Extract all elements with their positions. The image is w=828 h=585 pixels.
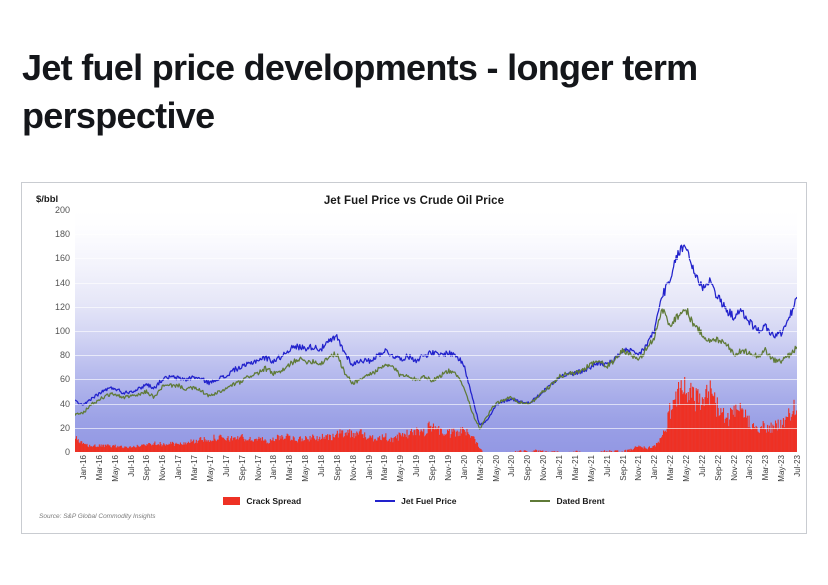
chart-legend: Crack Spread Jet Fuel Price Dated Brent [22,496,806,506]
legend-label-crack-spread: Crack Spread [246,496,301,506]
x-axis-tick-label: Mar-20 [476,455,485,480]
legend-swatch-jet-fuel-price-icon [375,500,395,502]
plot-wrapper: 200180160140120100806040200 Jan-16Mar-16… [35,210,797,468]
legend-swatch-dated-brent-icon [530,500,550,502]
slide-page: Jet fuel price developments - longer ter… [0,0,828,585]
x-axis-tick-label: Mar-19 [380,455,389,480]
legend-label-dated-brent: Dated Brent [556,496,604,506]
x-axis-tick-label: Jan-16 [79,455,88,479]
x-axis-tick-label: Nov-22 [730,455,739,481]
x-axis-tick-label: Sep-16 [142,455,151,481]
x-axis-tick-label: May-22 [682,455,691,482]
legend-item-crack-spread[interactable]: Crack Spread [223,496,301,506]
legend-item-dated-brent[interactable]: Dated Brent [530,496,604,506]
x-axis-tick-label: May-20 [492,455,501,482]
x-axis-tick-label: May-19 [396,455,405,482]
x-axis-tick-label: Jan-18 [269,455,278,479]
gridline [75,355,797,356]
legend-item-jet-fuel-price[interactable]: Jet Fuel Price [375,496,456,506]
y-axis-tick-label: 80 [60,350,70,360]
y-axis-tick-label: 120 [55,302,70,312]
x-axis: Jan-16Mar-16May-16Jul-16Sep-16Nov-16Jan-… [75,453,797,493]
x-axis-tick-label: Mar-18 [285,455,294,480]
x-axis-tick-label: Jul-16 [127,455,136,477]
source-note: Source: S&P Global Commodity Insights [39,513,155,520]
gridline [75,428,797,429]
gridline [75,404,797,405]
x-axis-tick-label: Jan-20 [460,455,469,479]
x-axis-tick-label: Nov-16 [158,455,167,481]
x-axis-tick-label: May-18 [301,455,310,482]
gridline [75,379,797,380]
chart-title: Jet Fuel Price vs Crude Oil Price [22,195,806,207]
x-axis-tick-label: Nov-19 [444,455,453,481]
gridline [75,210,797,211]
chart-card: $/bbl Jet Fuel Price vs Crude Oil Price … [21,182,807,534]
gridline [75,258,797,259]
gridline [75,234,797,235]
x-axis-tick-label: Jan-22 [650,455,659,479]
x-axis-tick-label: Jul-22 [698,455,707,477]
x-axis-tick-label: Sep-22 [714,455,723,481]
x-axis-tick-label: May-23 [777,455,786,482]
x-axis-tick-label: Jul-19 [412,455,421,477]
x-axis-tick-label: Sep-18 [333,455,342,481]
x-axis-tick-label: Jan-19 [365,455,374,479]
y-axis-tick-label: 160 [55,253,70,263]
x-axis-tick-label: Mar-16 [95,455,104,480]
x-axis-tick-label: May-17 [206,455,215,482]
gridline [75,283,797,284]
x-axis-tick-label: Sep-19 [428,455,437,481]
x-axis-tick-label: Jan-23 [745,455,754,479]
x-axis-tick-label: Jul-20 [507,455,516,477]
x-axis-tick-label: Jul-23 [793,455,802,477]
x-axis-tick-label: Mar-22 [666,455,675,480]
y-axis-tick-label: 140 [55,278,70,288]
x-axis-tick-label: Nov-21 [634,455,643,481]
x-axis-tick-label: May-16 [111,455,120,482]
x-axis-tick-label: Nov-20 [539,455,548,481]
x-axis-tick-label: Nov-17 [254,455,263,481]
y-axis: 200180160140120100806040200 [35,210,75,452]
gridline [75,331,797,332]
y-axis-tick-label: 60 [60,374,70,384]
x-axis-tick-label: Sep-21 [619,455,628,481]
legend-swatch-crack-spread-icon [223,497,240,505]
x-axis-tick-label: Jul-17 [222,455,231,477]
x-axis-tick-label: May-21 [587,455,596,482]
y-axis-tick-label: 20 [60,423,70,433]
x-axis-tick-label: Jul-18 [317,455,326,477]
x-axis-tick-label: Sep-17 [238,455,247,481]
gridline [75,307,797,308]
plot-area [75,210,797,452]
page-title: Jet fuel price developments - longer ter… [22,44,812,139]
y-axis-tick-label: 200 [55,205,70,215]
x-axis-tick-label: Jul-21 [603,455,612,477]
x-axis-tick-label: Nov-18 [349,455,358,481]
x-axis-tick-label: Mar-21 [571,455,580,480]
y-axis-tick-label: 0 [65,447,70,457]
x-axis-tick-label: Mar-23 [761,455,770,480]
x-axis-tick-label: Jan-21 [555,455,564,479]
y-axis-tick-label: 100 [55,326,70,336]
x-axis-tick-label: Jan-17 [174,455,183,479]
y-axis-tick-label: 40 [60,399,70,409]
y-axis-tick-label: 180 [55,229,70,239]
x-axis-tick-label: Mar-17 [190,455,199,480]
legend-label-jet-fuel-price: Jet Fuel Price [401,496,456,506]
x-axis-tick-label: Sep-20 [523,455,532,481]
